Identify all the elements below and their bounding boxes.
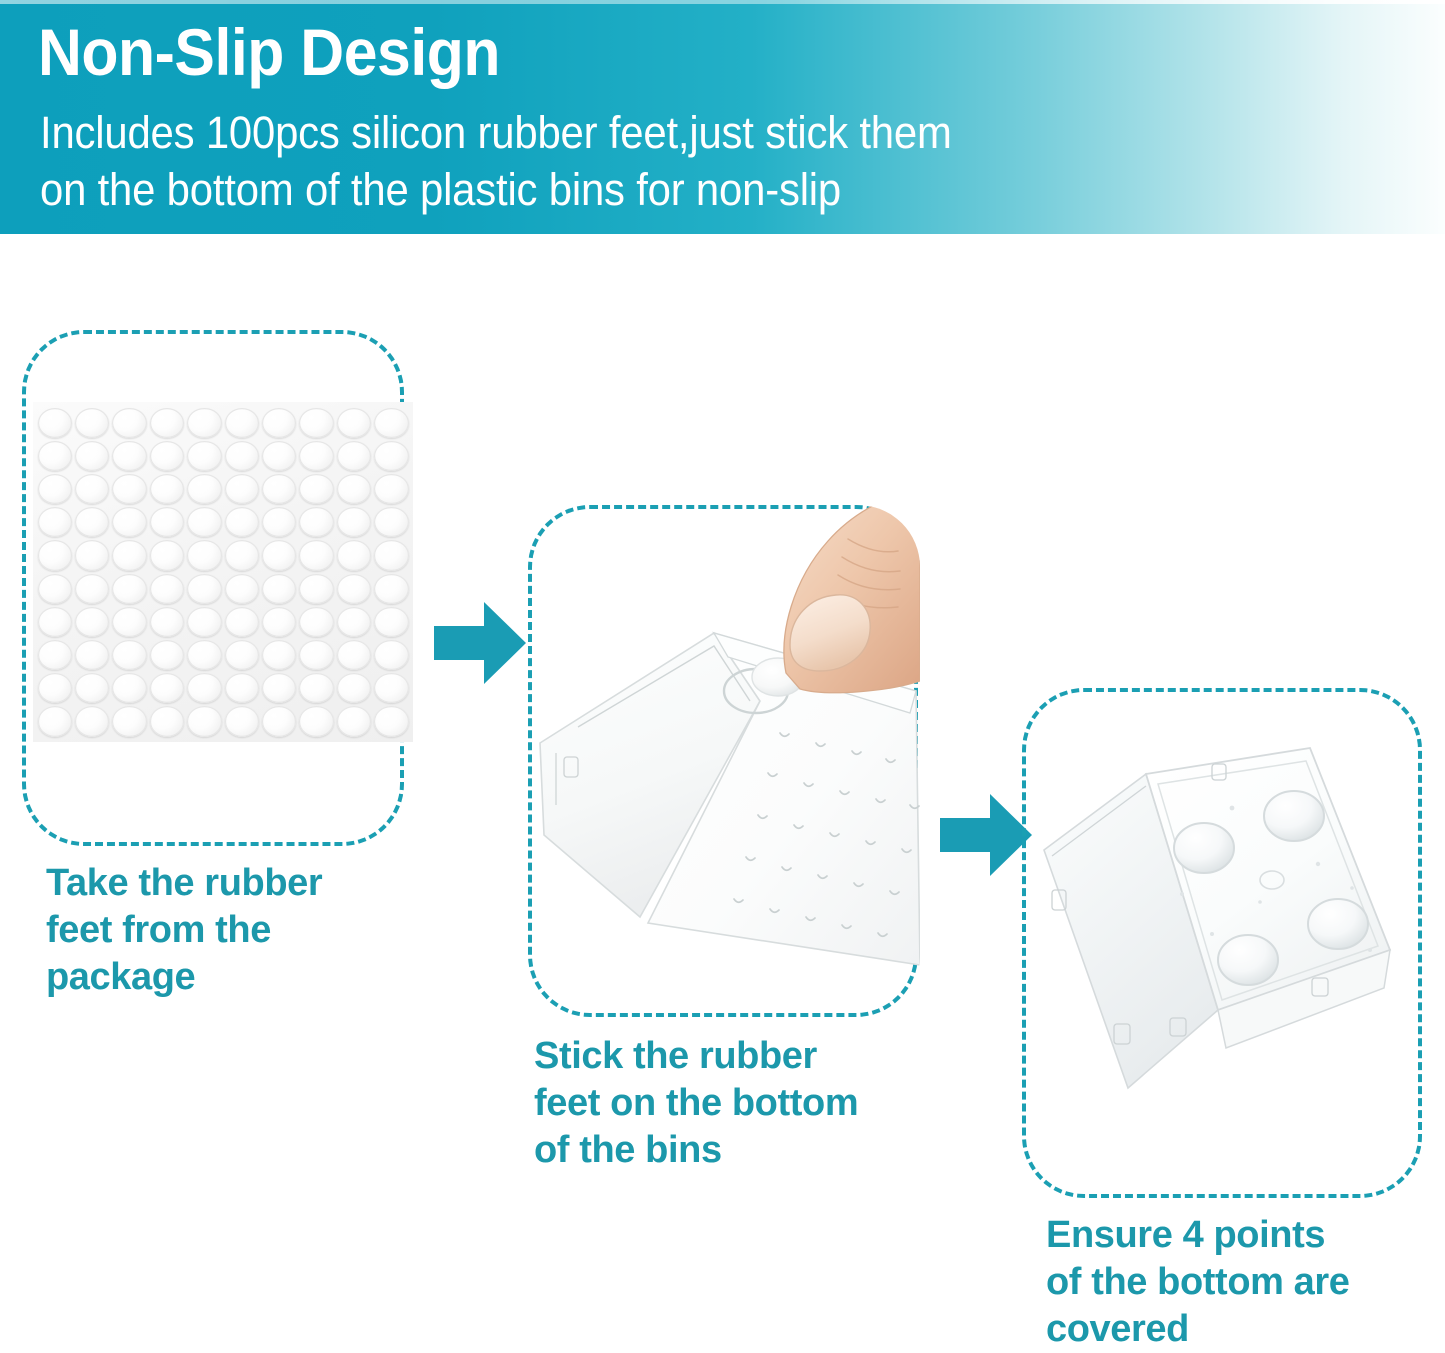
- rubber-foot: [112, 706, 146, 736]
- page-title: Non-Slip Design: [38, 12, 500, 92]
- rubber-foot: [75, 640, 109, 670]
- rubber-foot: [225, 706, 259, 736]
- rubber-foot: [262, 507, 296, 537]
- rubber-foot: [374, 507, 408, 537]
- rubber-foot: [262, 607, 296, 637]
- rubber-foot: [112, 408, 146, 438]
- rubber-foot: [75, 408, 109, 438]
- header-top-strip: [0, 0, 1445, 4]
- rubber-foot: [225, 408, 259, 438]
- rubber-foot: [38, 706, 72, 736]
- rubber-foot: [187, 607, 221, 637]
- rubber-foot: [374, 607, 408, 637]
- rubber-foot: [374, 640, 408, 670]
- rubber-foot: [38, 441, 72, 471]
- rubber-foot: [299, 474, 333, 504]
- rubber-foot: [299, 507, 333, 537]
- header-banner: Non-Slip Design Includes 100pcs silicon …: [0, 0, 1445, 234]
- rubber-foot: [337, 706, 371, 736]
- rubber-foot: [75, 673, 109, 703]
- rubber-foot: [150, 540, 184, 570]
- rubber-foot: [75, 607, 109, 637]
- rubber-foot: [299, 673, 333, 703]
- rubber-foot: [262, 574, 296, 604]
- rubber-foot: [150, 408, 184, 438]
- rubber-foot: [225, 574, 259, 604]
- rubber-foot-2: [1264, 791, 1324, 841]
- rubber-foot: [38, 574, 72, 604]
- rubber-foot: [150, 507, 184, 537]
- hand-sticking-foot-on-bin-image: [528, 505, 920, 1019]
- rubber-foot: [262, 673, 296, 703]
- rubber-foot: [75, 574, 109, 604]
- rubber-foot: [150, 607, 184, 637]
- rubber-foot: [187, 640, 221, 670]
- rubber-foot: [299, 706, 333, 736]
- flow-arrow-right-icon-2: [938, 792, 1034, 883]
- rubber-foot: [374, 408, 408, 438]
- rubber-foot: [75, 706, 109, 736]
- rubber-foot: [337, 441, 371, 471]
- step-caption-3: Ensure 4 points of the bottom are covere…: [1046, 1212, 1445, 1353]
- rubber-foot: [187, 574, 221, 604]
- rubber-foot: [112, 474, 146, 504]
- rubber-foot: [299, 408, 333, 438]
- rubber-foot: [150, 673, 184, 703]
- rubber-foot: [112, 640, 146, 670]
- rubber-foot: [337, 673, 371, 703]
- rubber-foot: [299, 540, 333, 570]
- rubber-foot: [38, 408, 72, 438]
- rubber-foot-4: [1308, 899, 1368, 949]
- rubber-feet-grid: [33, 402, 413, 742]
- rubber-foot: [337, 640, 371, 670]
- rubber-foot: [38, 673, 72, 703]
- rubber-foot: [225, 673, 259, 703]
- rubber-foot: [112, 441, 146, 471]
- rubber-foot: [299, 574, 333, 604]
- rubber-foot: [187, 673, 221, 703]
- rubber-foot: [337, 607, 371, 637]
- rubber-foot: [374, 706, 408, 736]
- rubber-foot: [374, 474, 408, 504]
- rubber-foot: [337, 507, 371, 537]
- rubber-foot: [112, 540, 146, 570]
- rubber-foot: [75, 540, 109, 570]
- rubber-foot: [75, 474, 109, 504]
- rubber-foot: [262, 706, 296, 736]
- rubber-foot: [262, 540, 296, 570]
- rubber-foot: [262, 640, 296, 670]
- rubber-foot-3: [1218, 935, 1278, 985]
- page-subtitle: Includes 100pcs silicon rubber feet,just…: [40, 104, 952, 218]
- rubber-foot: [262, 474, 296, 504]
- bin-with-four-feet-image: [1022, 688, 1424, 1200]
- rubber-foot: [225, 474, 259, 504]
- rubber-foot: [225, 607, 259, 637]
- rubber-foot: [337, 574, 371, 604]
- rubber-foot: [337, 540, 371, 570]
- rubber-foot: [112, 673, 146, 703]
- rubber-foot: [112, 507, 146, 537]
- rubber-foot: [38, 474, 72, 504]
- rubber-foot: [112, 574, 146, 604]
- rubber-foot: [225, 441, 259, 471]
- rubber-foot: [150, 441, 184, 471]
- rubber-foot: [38, 640, 72, 670]
- flow-arrow-right-icon-1: [432, 600, 528, 691]
- rubber-foot: [187, 540, 221, 570]
- rubber-foot: [225, 540, 259, 570]
- rubber-foot: [150, 706, 184, 736]
- rubber-foot: [337, 408, 371, 438]
- rubber-foot: [262, 408, 296, 438]
- rubber-foot: [187, 507, 221, 537]
- rubber-foot: [337, 474, 371, 504]
- rubber-foot: [299, 441, 333, 471]
- rubber-foot: [150, 474, 184, 504]
- rubber-foot: [299, 607, 333, 637]
- rubber-foot: [262, 441, 296, 471]
- rubber-foot: [75, 507, 109, 537]
- rubber-foot: [38, 607, 72, 637]
- rubber-foot: [75, 441, 109, 471]
- rubber-foot: [187, 441, 221, 471]
- rubber-foot: [187, 474, 221, 504]
- rubber-foot: [374, 441, 408, 471]
- rubber-feet-sheet-image: [33, 402, 413, 742]
- rubber-foot: [187, 408, 221, 438]
- rubber-foot: [374, 574, 408, 604]
- rubber-foot: [150, 574, 184, 604]
- step-caption-2: Stick the rubber feet on the bottom of t…: [534, 1033, 954, 1174]
- rubber-foot: [38, 507, 72, 537]
- rubber-foot: [150, 640, 184, 670]
- rubber-foot: [374, 540, 408, 570]
- rubber-foot: [299, 640, 333, 670]
- rubber-foot: [112, 607, 146, 637]
- rubber-foot: [225, 507, 259, 537]
- rubber-foot: [374, 673, 408, 703]
- rubber-foot: [38, 540, 72, 570]
- step-caption-1: Take the rubber feet from the package: [46, 860, 416, 1001]
- rubber-foot: [225, 640, 259, 670]
- rubber-foot: [187, 706, 221, 736]
- rubber-foot-1: [1174, 823, 1234, 873]
